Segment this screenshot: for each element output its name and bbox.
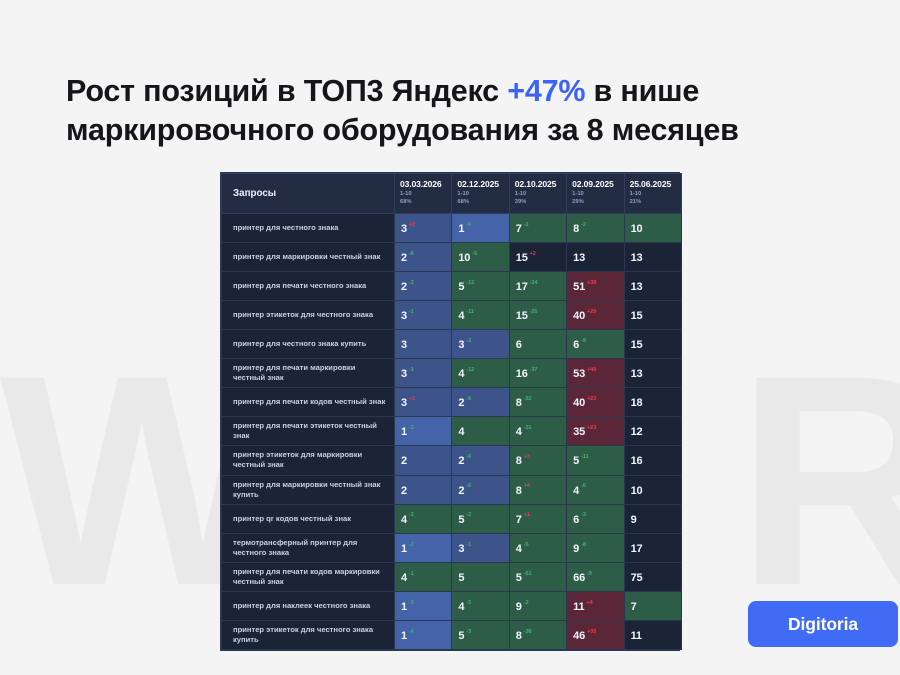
rank-delta: -11 bbox=[581, 454, 588, 460]
rank-cell: 3+2 bbox=[395, 214, 452, 243]
rank-value: 1 bbox=[401, 630, 407, 642]
rank-cell: 2 bbox=[395, 475, 452, 504]
rank-value: 3 bbox=[458, 543, 464, 555]
rank-value: 46 bbox=[573, 630, 585, 642]
rank-cell: 2-6 bbox=[452, 475, 509, 504]
rank-value: 10 bbox=[631, 223, 643, 235]
rank-cell: 1-3 bbox=[395, 592, 452, 621]
rank-delta: -3 bbox=[409, 425, 414, 431]
rank-cell: 5-2 bbox=[452, 504, 509, 533]
rank-cell: 10 bbox=[624, 214, 681, 243]
rank-cell: 40+22 bbox=[567, 388, 624, 417]
rank-value: 15 bbox=[631, 310, 643, 322]
rank-cell: 7-1 bbox=[509, 214, 566, 243]
rank-cell: 8-2 bbox=[567, 214, 624, 243]
rank-value: 8 bbox=[516, 397, 522, 409]
rank-value: 13 bbox=[631, 281, 643, 293]
rank-delta: -3 bbox=[409, 600, 414, 606]
rank-delta: -2 bbox=[466, 512, 471, 518]
rank-cell: 15 bbox=[624, 330, 681, 359]
rank-delta: -6 bbox=[466, 222, 471, 228]
rank-value: 5 bbox=[458, 630, 464, 642]
rank-cell: 5 bbox=[452, 562, 509, 591]
rank-cell: 66-9 bbox=[567, 562, 624, 591]
rank-value: 75 bbox=[631, 572, 643, 584]
title-part-1: Рост позиций в ТОП3 Яндекс bbox=[66, 74, 507, 108]
date-sub-1: 1-10 68% bbox=[457, 191, 504, 206]
table-body: принтер для честного знака3+21-67-18-210… bbox=[222, 214, 682, 650]
rank-cell: 12 bbox=[624, 417, 681, 446]
rank-delta: -61 bbox=[524, 571, 532, 577]
rank-value: 3 bbox=[401, 368, 407, 380]
rank-value: 40 bbox=[573, 397, 585, 409]
rank-value: 2 bbox=[458, 455, 464, 467]
rank-cell: 3-1 bbox=[452, 533, 509, 562]
rank-delta: +4 bbox=[524, 483, 530, 489]
rank-cell: 3 bbox=[395, 330, 452, 359]
rank-value: 15 bbox=[631, 339, 643, 351]
rank-delta: -1 bbox=[409, 309, 414, 315]
rank-delta: -8 bbox=[409, 251, 414, 257]
rank-cell: 8-38 bbox=[509, 621, 566, 650]
rank-delta: +1 bbox=[524, 512, 530, 518]
rank-value: 1 bbox=[401, 601, 407, 613]
rank-cell: 10-5 bbox=[452, 243, 509, 272]
rank-value: 6 bbox=[573, 339, 579, 351]
rank-delta: -8 bbox=[581, 542, 586, 548]
column-header-date-3: 02.09.2025 1-10 29% bbox=[567, 174, 624, 214]
rank-value: 4 bbox=[401, 514, 407, 526]
query-cell: принтер для печати кодов маркировки чест… bbox=[222, 562, 395, 591]
rank-value: 3 bbox=[458, 339, 464, 351]
rank-value: 6 bbox=[573, 514, 579, 526]
rank-delta: +22 bbox=[587, 396, 596, 402]
rank-cell: 13 bbox=[624, 359, 681, 388]
date-label-4: 25.06.2025 bbox=[630, 179, 677, 189]
query-cell: принтер для печати этикеток честный знак bbox=[222, 417, 395, 446]
query-cell: принтер для честного знака bbox=[222, 214, 395, 243]
rankings-table: Запросы 03.03.2026 1-10 68% 02.12.2025 1… bbox=[221, 173, 682, 650]
rank-value: 3 bbox=[401, 310, 407, 322]
rank-cell: 51+38 bbox=[567, 272, 624, 301]
date-sub-2: 1-10 39% bbox=[515, 191, 562, 206]
rank-value: 18 bbox=[631, 397, 643, 409]
rank-cell: 17-34 bbox=[509, 272, 566, 301]
range-0: 1-10 bbox=[400, 191, 447, 199]
rank-cell: 6 bbox=[509, 330, 566, 359]
rank-cell: 4-5 bbox=[509, 533, 566, 562]
query-cell: термотрансферный принтер для честного зн… bbox=[222, 533, 395, 562]
rank-value: 10 bbox=[458, 252, 470, 264]
rank-delta: -1 bbox=[466, 542, 471, 548]
rank-value: 5 bbox=[458, 572, 464, 584]
table-row: принтер для маркировки честный знак купи… bbox=[222, 475, 682, 504]
table-row: принтер этикеток для маркировки честный … bbox=[222, 446, 682, 475]
rank-cell: 17 bbox=[624, 533, 681, 562]
query-cell: принтер для наклеек честного знака bbox=[222, 592, 395, 621]
rank-cell: 11 bbox=[624, 621, 681, 650]
rank-cell: 1-6 bbox=[452, 214, 509, 243]
rank-cell: 3-1 bbox=[395, 359, 452, 388]
rank-cell: 3+1 bbox=[395, 388, 452, 417]
rank-value: 16 bbox=[631, 455, 643, 467]
rank-cell: 4-5 bbox=[452, 592, 509, 621]
date-label-0: 03.03.2026 bbox=[400, 179, 447, 189]
rank-value: 9 bbox=[631, 514, 637, 526]
rank-cell: 18 bbox=[624, 388, 681, 417]
query-cell: принтер qr кодов честный знак bbox=[222, 504, 395, 533]
rank-delta: +40 bbox=[587, 367, 596, 373]
rank-cell: 75 bbox=[624, 562, 681, 591]
rank-delta: -3 bbox=[466, 629, 471, 635]
query-cell: принтер для печати честного знака bbox=[222, 272, 395, 301]
percent-0: 68% bbox=[400, 199, 447, 207]
rank-delta: -34 bbox=[530, 280, 538, 286]
rank-value: 4 bbox=[458, 368, 464, 380]
rank-delta: -12 bbox=[466, 367, 474, 373]
rank-value: 3 bbox=[401, 339, 407, 351]
rank-cell: 7 bbox=[624, 592, 681, 621]
rank-delta: -3 bbox=[581, 512, 586, 518]
rank-value: 5 bbox=[458, 281, 464, 293]
rank-cell: 13 bbox=[624, 243, 681, 272]
rank-delta: +23 bbox=[587, 425, 596, 431]
rank-value: 5 bbox=[573, 455, 579, 467]
rank-delta: -1 bbox=[409, 512, 414, 518]
column-header-date-2: 02.10.2025 1-10 39% bbox=[509, 174, 566, 214]
rank-delta: -5 bbox=[524, 542, 529, 548]
rank-cell: 9-8 bbox=[567, 533, 624, 562]
rank-delta: -3 bbox=[409, 280, 414, 286]
table-row: принтер для честного знака3+21-67-18-210 bbox=[222, 214, 682, 243]
rank-delta: +1 bbox=[409, 396, 415, 402]
rank-value: 1 bbox=[401, 543, 407, 555]
rank-value: 8 bbox=[516, 455, 522, 467]
rank-delta: +38 bbox=[587, 280, 596, 286]
rank-delta: +2 bbox=[530, 251, 536, 257]
rank-delta: -2 bbox=[524, 600, 529, 606]
rank-value: 4 bbox=[458, 310, 464, 322]
rank-cell: 2-6 bbox=[452, 446, 509, 475]
table-row: принтер для честного знака купить33-366-… bbox=[222, 330, 682, 359]
rank-delta: -6 bbox=[466, 396, 471, 402]
rank-cell: 2-3 bbox=[395, 272, 452, 301]
rank-delta: +35 bbox=[587, 629, 596, 635]
percent-4: 21% bbox=[630, 199, 677, 207]
table-header: Запросы 03.03.2026 1-10 68% 02.12.2025 1… bbox=[222, 174, 682, 214]
table-row: термотрансферный принтер для честного зн… bbox=[222, 533, 682, 562]
rank-delta: -6 bbox=[581, 483, 586, 489]
rank-cell: 1-3 bbox=[395, 417, 452, 446]
rank-cell: 4-12 bbox=[452, 359, 509, 388]
rank-delta: -2 bbox=[409, 542, 414, 548]
column-header-date-1: 02.12.2025 1-10 68% bbox=[452, 174, 509, 214]
rank-cell: 35+23 bbox=[567, 417, 624, 446]
query-cell: принтер этикеток для честного знака bbox=[222, 301, 395, 330]
rank-delta: +3 bbox=[524, 454, 530, 460]
rank-value: 13 bbox=[631, 252, 643, 264]
rank-cell: 15 bbox=[624, 301, 681, 330]
percent-3: 29% bbox=[572, 199, 619, 207]
rank-delta: -6 bbox=[466, 483, 471, 489]
rank-cell: 9 bbox=[624, 504, 681, 533]
rank-value: 2 bbox=[401, 455, 407, 467]
rank-cell: 1-4 bbox=[395, 621, 452, 650]
rank-cell: 11+4 bbox=[567, 592, 624, 621]
rank-value: 2 bbox=[401, 281, 407, 293]
date-label-3: 02.09.2025 bbox=[572, 179, 619, 189]
rank-value: 53 bbox=[573, 368, 585, 380]
rankings-table-container: Запросы 03.03.2026 1-10 68% 02.12.2025 1… bbox=[220, 172, 680, 651]
query-cell: принтер для печати кодов честный знак bbox=[222, 388, 395, 417]
rank-value: 1 bbox=[458, 223, 464, 235]
rank-cell: 6-3 bbox=[567, 504, 624, 533]
rank-delta: -6 bbox=[466, 454, 471, 460]
rank-cell: 6-9 bbox=[567, 330, 624, 359]
rank-delta: -2 bbox=[581, 222, 586, 228]
rank-delta: +2 bbox=[409, 222, 415, 228]
percent-1: 68% bbox=[457, 199, 504, 207]
rank-cell: 8+4 bbox=[509, 475, 566, 504]
percent-2: 39% bbox=[515, 199, 562, 207]
date-label-2: 02.10.2025 bbox=[515, 179, 562, 189]
rank-value: 15 bbox=[516, 252, 528, 264]
rank-delta: -5 bbox=[472, 251, 477, 257]
query-cell: принтер для честного знака купить bbox=[222, 330, 395, 359]
rank-value: 35 bbox=[573, 426, 585, 438]
query-cell: принтер для маркировки честный знак bbox=[222, 243, 395, 272]
rank-delta: -25 bbox=[530, 309, 538, 315]
rank-cell: 15-25 bbox=[509, 301, 566, 330]
query-cell: принтер для печати маркировки честный зн… bbox=[222, 359, 395, 388]
rank-value: 16 bbox=[516, 368, 528, 380]
rank-cell: 9-2 bbox=[509, 592, 566, 621]
rank-value: 4 bbox=[458, 426, 464, 438]
rank-cell: 5-61 bbox=[509, 562, 566, 591]
digitoria-badge-label: Digitoria bbox=[788, 614, 858, 635]
rank-value: 1 bbox=[401, 426, 407, 438]
rank-cell: 4-11 bbox=[452, 301, 509, 330]
rank-cell: 4-31 bbox=[509, 417, 566, 446]
rank-cell: 5-12 bbox=[452, 272, 509, 301]
rank-value: 2 bbox=[401, 485, 407, 497]
rank-delta: -38 bbox=[524, 629, 532, 635]
rank-value: 17 bbox=[631, 543, 643, 555]
table-row: принтер для печати кодов честный знак3+1… bbox=[222, 388, 682, 417]
date-sub-4: 1-10 21% bbox=[630, 191, 677, 206]
rank-cell: 16 bbox=[624, 446, 681, 475]
rank-cell: 2-6 bbox=[452, 388, 509, 417]
rank-value: 4 bbox=[516, 543, 522, 555]
rank-delta: -32 bbox=[524, 396, 532, 402]
table-row: принтер для печати маркировки честный зн… bbox=[222, 359, 682, 388]
range-4: 1-10 bbox=[630, 191, 677, 199]
table-row: принтер для печати честного знака2-35-12… bbox=[222, 272, 682, 301]
rank-value: 4 bbox=[573, 485, 579, 497]
date-sub-3: 1-10 29% bbox=[572, 191, 619, 206]
rank-value: 66 bbox=[573, 572, 585, 584]
rank-delta: -9 bbox=[581, 338, 586, 344]
range-2: 1-10 bbox=[515, 191, 562, 199]
rank-value: 2 bbox=[458, 485, 464, 497]
digitoria-badge[interactable]: Digitoria bbox=[748, 601, 898, 647]
rank-cell: 8-32 bbox=[509, 388, 566, 417]
column-header-date-4: 25.06.2025 1-10 21% bbox=[624, 174, 681, 214]
rank-value: 40 bbox=[573, 310, 585, 322]
rank-cell: 15+2 bbox=[509, 243, 566, 272]
rank-delta: +25 bbox=[587, 309, 596, 315]
rank-value: 17 bbox=[516, 281, 528, 293]
rank-cell: 3-1 bbox=[395, 301, 452, 330]
query-cell: принтер для маркировки честный знак купи… bbox=[222, 475, 395, 504]
table-row: принтер для печати кодов маркировки чест… bbox=[222, 562, 682, 591]
title-accent-percent: +47% bbox=[507, 74, 585, 108]
page-title: Рост позиций в ТОП3 Яндекс +47% в нише м… bbox=[66, 72, 856, 150]
rank-delta: -12 bbox=[466, 280, 474, 286]
rank-value: 3 bbox=[401, 223, 407, 235]
date-label-1: 02.12.2025 bbox=[457, 179, 504, 189]
rank-delta: -5 bbox=[466, 600, 471, 606]
rank-value: 4 bbox=[458, 601, 464, 613]
rank-value: 9 bbox=[573, 543, 579, 555]
rank-value: 13 bbox=[573, 252, 585, 264]
rank-cell: 5-11 bbox=[567, 446, 624, 475]
rank-value: 6 bbox=[516, 339, 522, 351]
query-cell: принтер этикеток для маркировки честный … bbox=[222, 446, 395, 475]
rank-value: 5 bbox=[458, 514, 464, 526]
rank-cell: 5-3 bbox=[452, 621, 509, 650]
rank-value: 2 bbox=[458, 397, 464, 409]
rank-cell: 3-3 bbox=[452, 330, 509, 359]
rank-delta: -1 bbox=[524, 222, 529, 228]
rank-cell: 46+35 bbox=[567, 621, 624, 650]
rank-value: 4 bbox=[401, 572, 407, 584]
date-sub-0: 1-10 68% bbox=[400, 191, 447, 206]
rank-cell: 10 bbox=[624, 475, 681, 504]
rank-cell: 13 bbox=[567, 243, 624, 272]
table-row: принтер для печати этикеток честный знак… bbox=[222, 417, 682, 446]
range-1: 1-10 bbox=[457, 191, 504, 199]
rank-cell: 2 bbox=[395, 446, 452, 475]
rank-value: 15 bbox=[516, 310, 528, 322]
table-row: принтер этикеток для честного знака3-14-… bbox=[222, 301, 682, 330]
query-cell: принтер этикеток для честного знака купи… bbox=[222, 621, 395, 650]
rank-delta: -1 bbox=[409, 571, 414, 577]
rank-delta: -3 bbox=[466, 338, 471, 344]
rank-value: 13 bbox=[631, 368, 643, 380]
rank-delta: -31 bbox=[524, 425, 532, 431]
rank-cell: 16-37 bbox=[509, 359, 566, 388]
rank-value: 8 bbox=[516, 485, 522, 497]
rank-value: 9 bbox=[516, 601, 522, 613]
rank-value: 4 bbox=[516, 426, 522, 438]
rank-cell: 4-1 bbox=[395, 562, 452, 591]
header-row: Запросы 03.03.2026 1-10 68% 02.12.2025 1… bbox=[222, 174, 682, 214]
table-row: принтер этикеток для честного знака купи… bbox=[222, 621, 682, 650]
range-3: 1-10 bbox=[572, 191, 619, 199]
rank-cell: 8+3 bbox=[509, 446, 566, 475]
rank-value: 11 bbox=[631, 630, 642, 642]
rank-cell: 1-2 bbox=[395, 533, 452, 562]
rank-cell: 4-1 bbox=[395, 504, 452, 533]
rank-delta: -11 bbox=[466, 309, 473, 315]
column-header-queries: Запросы bbox=[222, 174, 395, 214]
rank-cell: 4-6 bbox=[567, 475, 624, 504]
rank-value: 3 bbox=[401, 397, 407, 409]
rank-cell: 40+25 bbox=[567, 301, 624, 330]
column-header-date-0: 03.03.2026 1-10 68% bbox=[395, 174, 452, 214]
rank-value: 10 bbox=[631, 485, 643, 497]
rank-value: 12 bbox=[631, 426, 643, 438]
rank-cell: 4 bbox=[452, 417, 509, 446]
rank-value: 7 bbox=[516, 514, 522, 526]
rank-value: 8 bbox=[573, 223, 579, 235]
rank-delta: -9 bbox=[587, 571, 592, 577]
rank-cell: 53+40 bbox=[567, 359, 624, 388]
rank-cell: 7+1 bbox=[509, 504, 566, 533]
rank-cell: 13 bbox=[624, 272, 681, 301]
rank-value: 11 bbox=[573, 601, 584, 613]
rank-delta: -1 bbox=[409, 367, 414, 373]
rank-value: 2 bbox=[401, 252, 407, 264]
table-row: принтер для наклеек честного знака1-34-5… bbox=[222, 592, 682, 621]
rank-delta: +4 bbox=[586, 600, 592, 606]
rank-value: 5 bbox=[516, 572, 522, 584]
rank-value: 8 bbox=[516, 630, 522, 642]
rank-value: 7 bbox=[631, 601, 637, 613]
table-row: принтер qr кодов честный знак4-15-27+16-… bbox=[222, 504, 682, 533]
rank-cell: 2-8 bbox=[395, 243, 452, 272]
rank-delta: -37 bbox=[530, 367, 538, 373]
rank-value: 7 bbox=[516, 223, 522, 235]
table-row: принтер для маркировки честный знак2-810… bbox=[222, 243, 682, 272]
rank-value: 51 bbox=[573, 281, 585, 293]
rank-delta: -4 bbox=[409, 629, 414, 635]
